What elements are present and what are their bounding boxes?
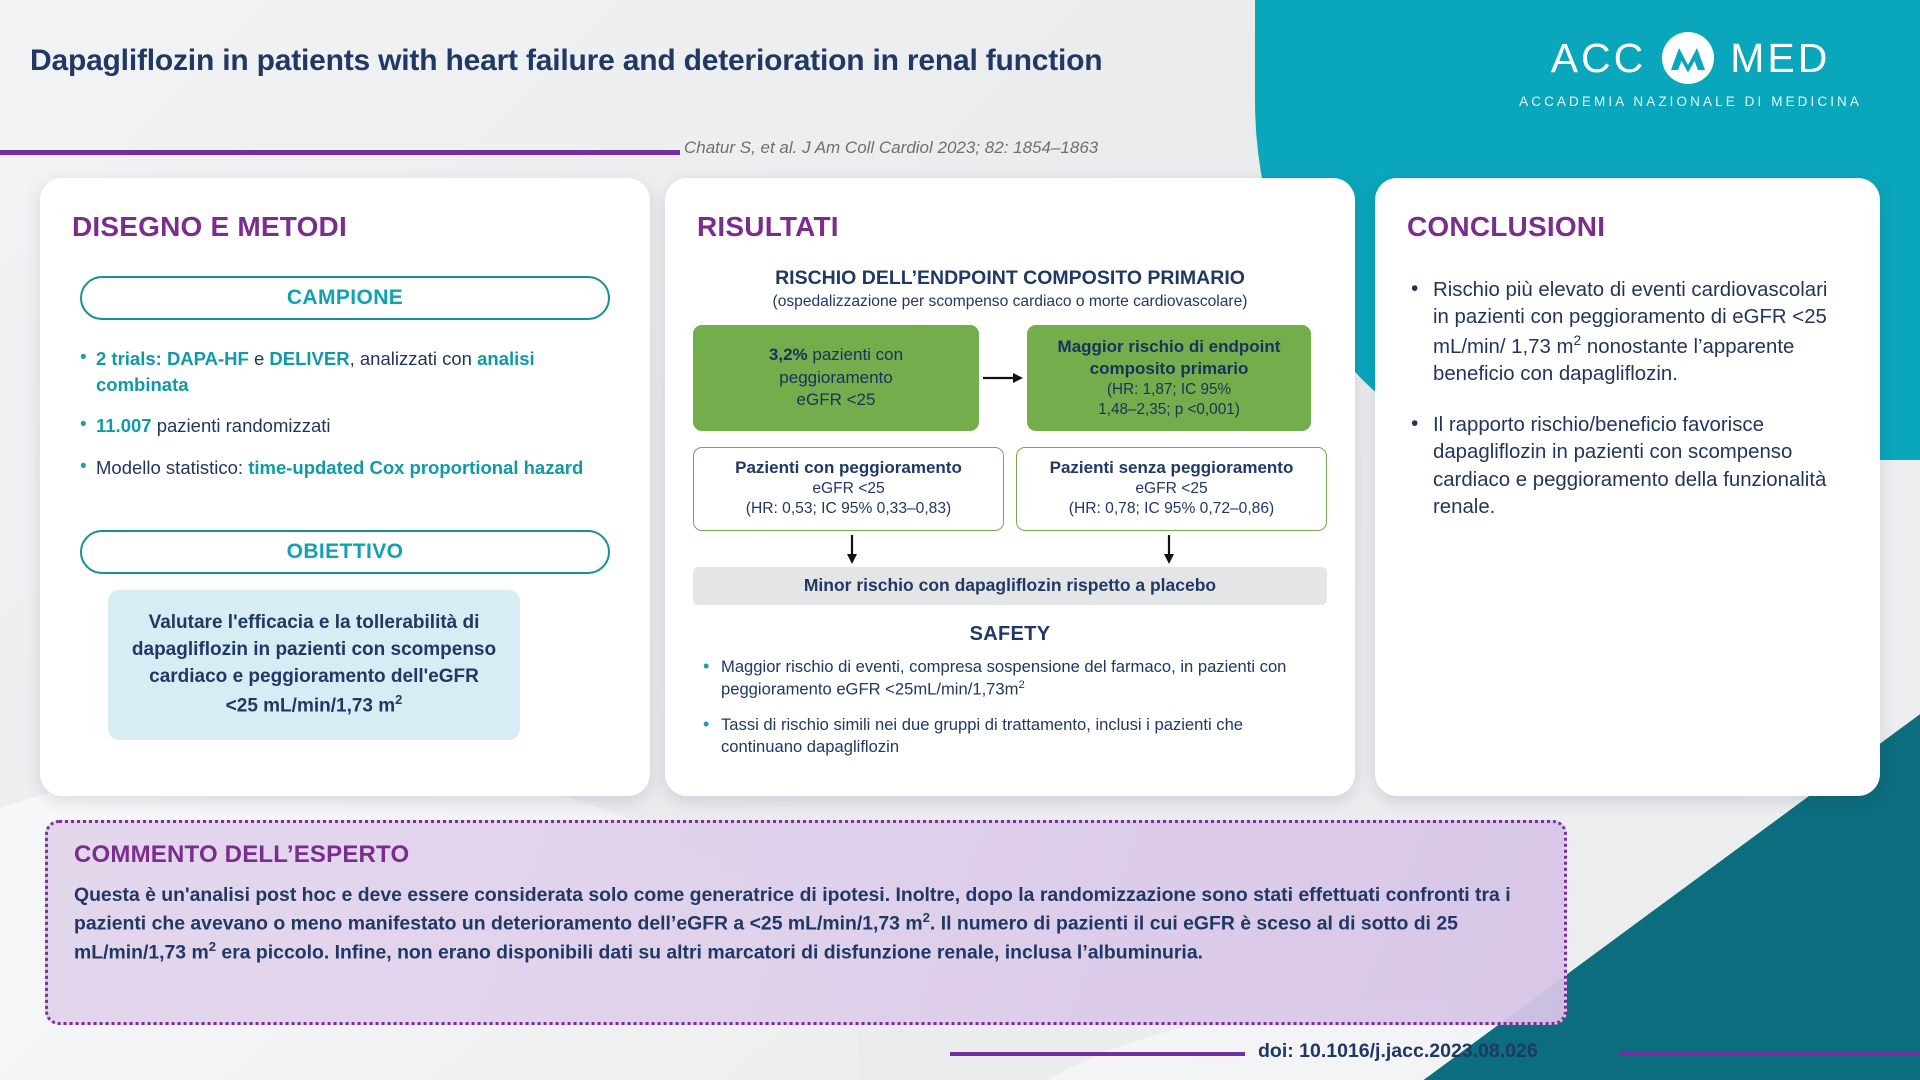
white-boxes-row: Pazienti con peggioramento eGFR <25 (HR:… xyxy=(693,447,1327,531)
green-box-risk: Maggior rischio di endpoint composito pr… xyxy=(1027,325,1311,431)
design-b2-text: pazienti randomizzati xyxy=(152,415,331,436)
commento-p3: era piccolo. Infine, non erano disponibi… xyxy=(216,941,1203,963)
card-conclusioni: CONCLUSIONI Rischio più elevato di event… xyxy=(1375,178,1880,796)
safety-b1-sup: 2 xyxy=(1018,679,1024,691)
objective-line-2: dapagliflozin in pazienti con scompenso xyxy=(132,639,496,660)
safety-bullet-2: Tassi di rischio simili nei due gruppi d… xyxy=(699,714,1321,758)
design-bullet-2: 11.007 pazienti randomizzati xyxy=(80,413,614,439)
design-b1-mid: , analizzati con xyxy=(350,348,478,369)
logo-wordmark: ACC MED xyxy=(1519,32,1862,84)
slide-root: Dapagliflozin in patients with heart fai… xyxy=(0,0,1920,1080)
card-title-conclusioni: CONCLUSIONI xyxy=(1407,211,1880,243)
pill-obiettivo-label: OBIETTIVO xyxy=(287,540,404,564)
down-arrow-left-icon xyxy=(693,535,1010,565)
logo-med-text: MED xyxy=(1730,35,1830,82)
green-right-line1: Maggior rischio di endpoint xyxy=(1027,336,1311,358)
green-right-line3: (HR: 1,87; IC 95% xyxy=(1027,380,1311,400)
grey-bar-label: Minor rischio con dapagliflozin rispetto… xyxy=(804,575,1216,596)
commento-sup1: 2 xyxy=(923,910,930,925)
endpoint-subheading: (ospedalizzazione per scompenso cardiaco… xyxy=(665,293,1355,311)
green-left-line1: 3,2% pazienti con xyxy=(693,344,979,366)
safety-b2-text: Tassi di rischio simili nei due gruppi d… xyxy=(721,715,1243,756)
pill-obiettivo: OBIETTIVO xyxy=(80,530,610,574)
accmed-logo: ACC MED ACCADEMIA NAZIONALE DI MEDICINA xyxy=(1519,32,1862,109)
green-left-line2: peggioramento xyxy=(693,367,979,389)
logo-acc-text: ACC xyxy=(1551,35,1647,82)
design-b1-trials: 2 trials: DAPA-HF xyxy=(96,348,249,369)
green-right-line4: 1,48–2,35; p <0,001) xyxy=(1027,400,1311,420)
white-right-line2: eGFR <25 xyxy=(1021,479,1322,499)
green-left-line3: eGFR <25 xyxy=(693,389,979,411)
page-title: Dapagliflozin in patients with heart fai… xyxy=(30,44,1210,78)
down-arrow-right-icon xyxy=(1010,535,1327,565)
green-right-line2: composito primario xyxy=(1027,358,1311,380)
logo-subtitle: ACCADEMIA NAZIONALE DI MEDICINA xyxy=(1519,94,1862,109)
expert-comment-body: Questa è un'analisi post hoc e deve esse… xyxy=(74,882,1538,966)
doi-rule-right xyxy=(1620,1052,1920,1056)
white-right-line3: (HR: 0,78; IC 95% 0,72–0,86) xyxy=(1021,499,1322,519)
white-left-line3: (HR: 0,53; IC 95% 0,33–0,83) xyxy=(698,499,999,519)
concl-b2-p1: Il rapporto rischio/beneficio favorisce … xyxy=(1433,414,1826,517)
pill-campione-label: CAMPIONE xyxy=(287,286,403,310)
objective-line-4: <25 mL/min/1,73 m xyxy=(226,695,396,716)
endpoint-heading: RISCHIO DELL’ENDPOINT COMPOSITO PRIMARIO xyxy=(665,267,1355,290)
white-left-line2: eGFR <25 xyxy=(698,479,999,499)
design-b3-lead: Modello statistico: xyxy=(96,457,248,478)
green-box-percentage: 3,2% pazienti con peggioramento eGFR <25 xyxy=(693,325,979,431)
design-b3-model: time-updated Cox proportional hazard xyxy=(248,457,583,478)
safety-bullet-1: Maggior rischio di eventi, compresa sosp… xyxy=(699,656,1321,701)
conclusion-bullet-2: Il rapporto rischio/beneficio favorisce … xyxy=(1407,412,1846,521)
commento-sup2: 2 xyxy=(209,939,216,954)
green-left-strong: 3,2% xyxy=(769,345,808,364)
grey-summary-bar: Minor rischio con dapagliflozin rispetto… xyxy=(693,567,1327,605)
doi-rule-left xyxy=(950,1052,1245,1056)
pill-campione: CAMPIONE xyxy=(80,276,610,320)
white-left-strong: Pazienti con peggioramento xyxy=(698,457,999,479)
arrow-right-icon xyxy=(979,369,1027,387)
objective-line-3: cardiaco e peggioramento dell'eGFR xyxy=(149,666,479,687)
design-bullet-3: Modello statistico: time-updated Cox pro… xyxy=(80,455,614,481)
objective-box: Valutare l'efficacia e la tollerabilità … xyxy=(108,590,520,740)
objective-superscript: 2 xyxy=(395,692,402,707)
card-title-risultati: RISULTATI xyxy=(697,211,1355,243)
safety-heading: SAFETY xyxy=(665,623,1355,646)
expert-comment-title: COMMENTO DELL’ESPERTO xyxy=(74,841,1538,869)
design-b1-deliver: DELIVER xyxy=(269,348,349,369)
white-box-without-worsening: Pazienti senza peggioramento eGFR <25 (H… xyxy=(1016,447,1327,531)
page-footer: doi: 10.1016/j.jacc.2023.08.026 xyxy=(0,1030,1920,1080)
card-disegno-e-metodi: DISEGNO E METODI CAMPIONE 2 trials: DAPA… xyxy=(40,178,650,796)
safety-bullet-list: Maggior rischio di eventi, compresa sosp… xyxy=(699,656,1321,758)
design-bullet-1: 2 trials: DAPA-HF e DELIVER, analizzati … xyxy=(80,346,614,397)
design-b2-count: 11.007 xyxy=(96,415,152,436)
green-left-rest: pazienti con xyxy=(808,345,903,364)
logo-mark-icon xyxy=(1662,32,1714,84)
card-risultati: RISULTATI RISCHIO DELL’ENDPOINT COMPOSIT… xyxy=(665,178,1355,796)
green-boxes-row: 3,2% pazienti con peggioramento eGFR <25… xyxy=(693,325,1327,431)
doi-text: doi: 10.1016/j.jacc.2023.08.026 xyxy=(1258,1040,1538,1063)
white-right-strong: Pazienti senza peggioramento xyxy=(1021,457,1322,479)
citation-text: Chatur S, et al. J Am Coll Cardiol 2023;… xyxy=(684,138,1098,158)
design-bullet-list: 2 trials: DAPA-HF e DELIVER, analizzati … xyxy=(80,346,614,480)
conclusions-bullet-list: Rischio più elevato di eventi cardiovasc… xyxy=(1407,277,1846,521)
header-rule xyxy=(0,150,680,155)
conclusion-bullet-1: Rischio più elevato di eventi cardiovasc… xyxy=(1407,277,1846,388)
card-title-disegno: DISEGNO E METODI xyxy=(72,211,650,243)
white-box-with-worsening: Pazienti con peggioramento eGFR <25 (HR:… xyxy=(693,447,1004,531)
design-b1-conj: e xyxy=(249,348,270,369)
expert-comment-box: COMMENTO DELL’ESPERTO Questa è un'analis… xyxy=(45,820,1567,1025)
objective-line-1: Valutare l'efficacia e la tollerabilità … xyxy=(149,612,480,633)
safety-b1-text: Maggior rischio di eventi, compresa sosp… xyxy=(721,657,1286,699)
down-arrows-row xyxy=(693,535,1327,565)
